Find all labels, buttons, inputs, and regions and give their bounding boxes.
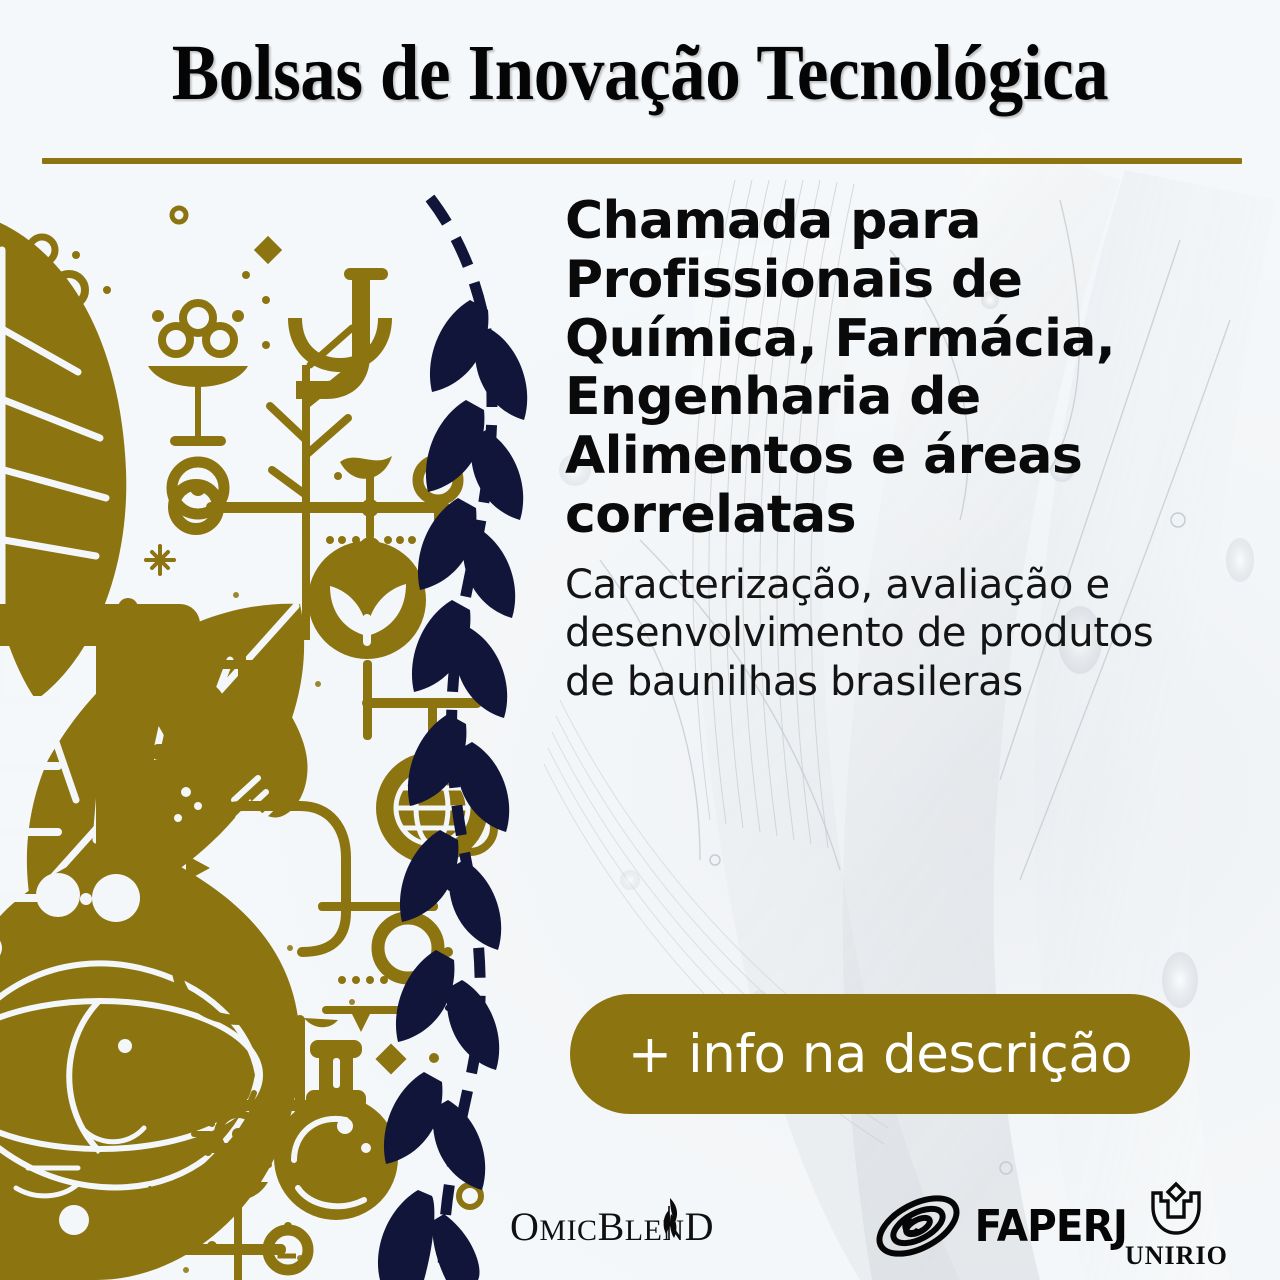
omicblend-d: D (685, 1204, 714, 1249)
more-info-button[interactable]: + info na descrição (570, 994, 1190, 1114)
unirio-logo: UNIRIO (1125, 1178, 1228, 1274)
title-divider (42, 158, 1242, 164)
faperj-logo: FAPERJ (872, 1178, 1134, 1274)
leaf-seed-icon (657, 1196, 683, 1242)
headline-text: Chamada para Profissionais de Química, F… (565, 192, 1205, 545)
unirio-crown-icon (1137, 1181, 1215, 1239)
subhead-text: Caracterização, avaliação e desenvolvime… (565, 561, 1205, 707)
poster-canvas: Bolsas de Inovação Tecnológica Chamada p… (0, 0, 1280, 1280)
omicblend-o: O (510, 1204, 539, 1249)
faperj-spiral-icon (872, 1191, 964, 1261)
page-title: Bolsas de Inovação Tecnológica (64, 34, 1216, 113)
more-info-button-label: + info na descrição (628, 1024, 1132, 1085)
omicblend-b: B (598, 1204, 625, 1249)
faperj-wordmark: FAPERJ (975, 1201, 1127, 1252)
logo-row: OMICBLEND FAPERJ (500, 1178, 1260, 1274)
content-column: Chamada para Profissionais de Química, F… (565, 192, 1205, 707)
omicblend-mic: MIC (539, 1214, 597, 1247)
header-block: Bolsas de Inovação Tecnológica (0, 0, 1280, 170)
omicblend-logo: OMICBLEND (510, 1178, 714, 1274)
unirio-wordmark: UNIRIO (1125, 1241, 1228, 1271)
omicblend-wordmark: OMICBLEND (510, 1203, 714, 1250)
